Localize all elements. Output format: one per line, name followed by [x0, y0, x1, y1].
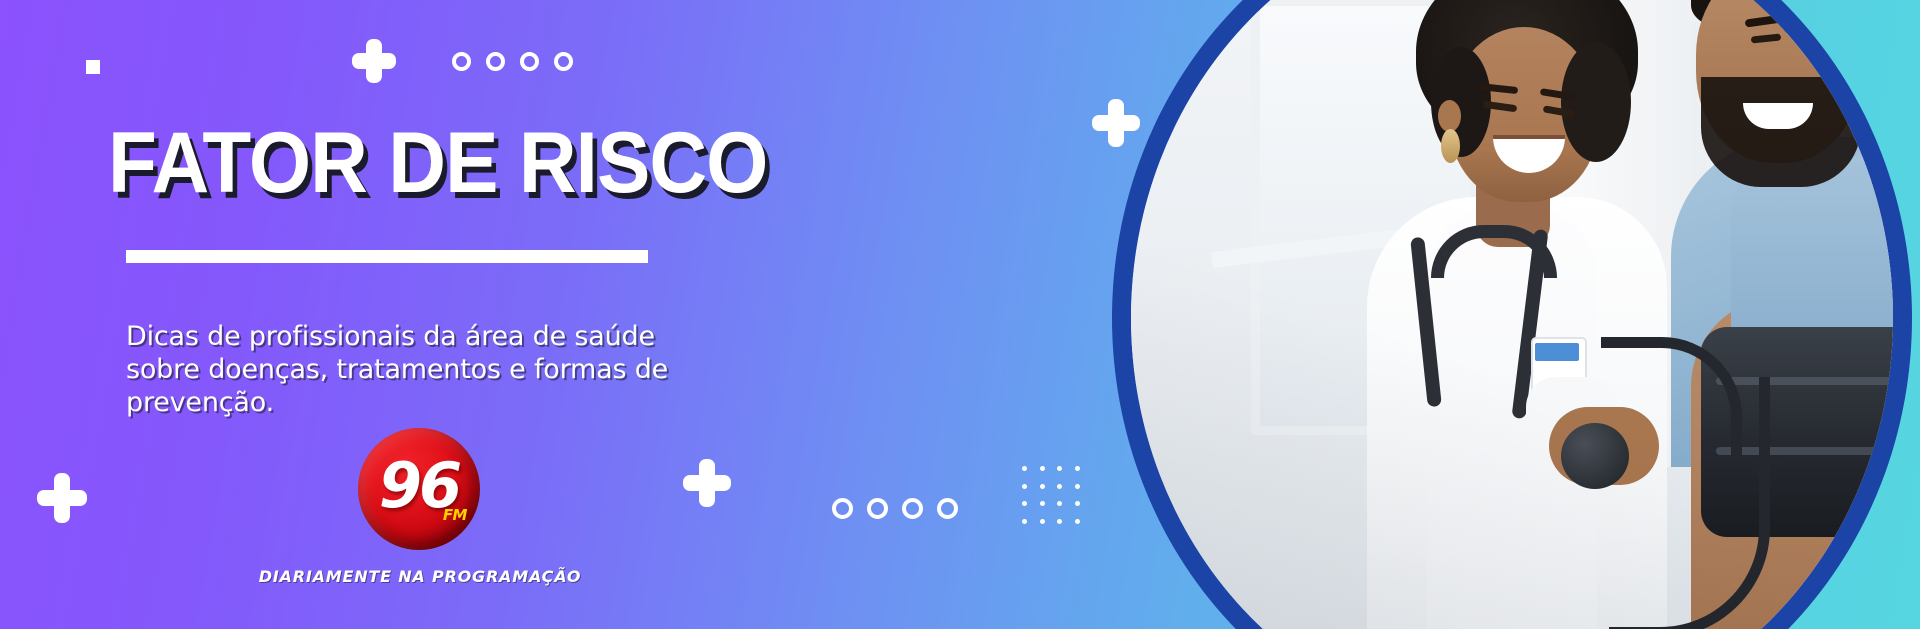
- subtitle-text: Dicas de profissionais da área de saúde …: [126, 321, 726, 420]
- photo-clip: [1131, 0, 1893, 629]
- grid-dot: [1022, 466, 1027, 471]
- grid-dot: [1040, 519, 1045, 524]
- grid-dot: [1022, 501, 1027, 506]
- radio-logo[interactable]: 96 FM: [358, 428, 480, 550]
- plus-icon-top-left: [352, 39, 396, 83]
- ring-row-bottom: [832, 498, 958, 519]
- grid-dot: [1040, 501, 1045, 506]
- ring-row-top: [452, 52, 573, 71]
- ring-icon: [832, 498, 853, 519]
- ring-icon: [554, 52, 573, 71]
- plus-icon-bottom-left: [37, 473, 87, 523]
- health-program-banner: FATOR DE RISCO Dicas de profissionais da…: [0, 0, 1920, 629]
- ring-icon: [937, 498, 958, 519]
- grid-dot: [1075, 484, 1080, 489]
- logo-band-label: FM: [443, 506, 467, 524]
- grid-dot: [1075, 519, 1080, 524]
- grid-dot: [1040, 466, 1045, 471]
- grid-dot: [1075, 466, 1080, 471]
- grid-dot: [1057, 466, 1062, 471]
- ring-icon: [452, 52, 471, 71]
- dot-grid-decoration: [1016, 460, 1086, 530]
- photo-doctor-blood-pressure: [1131, 0, 1893, 629]
- grid-dot: [1057, 501, 1062, 506]
- square-dot-decoration: [86, 60, 100, 74]
- ring-icon: [486, 52, 505, 71]
- grid-dot: [1075, 501, 1080, 506]
- ring-icon: [520, 52, 539, 71]
- grid-dot: [1022, 519, 1027, 524]
- photo-frame-ellipse: [1112, 0, 1912, 629]
- grid-dot: [1057, 484, 1062, 489]
- title-underline: [126, 250, 648, 263]
- grid-dot: [1040, 484, 1045, 489]
- photo-vignette: [1131, 0, 1893, 629]
- logo-tagline: DIARIAMENTE NA PROGRAMAÇÃO: [140, 567, 700, 586]
- ring-icon: [902, 498, 923, 519]
- page-title: FATOR DE RISCO: [108, 122, 767, 205]
- ring-icon: [867, 498, 888, 519]
- grid-dot: [1022, 484, 1027, 489]
- grid-dot: [1057, 519, 1062, 524]
- plus-icon-bottom-center: [683, 459, 731, 507]
